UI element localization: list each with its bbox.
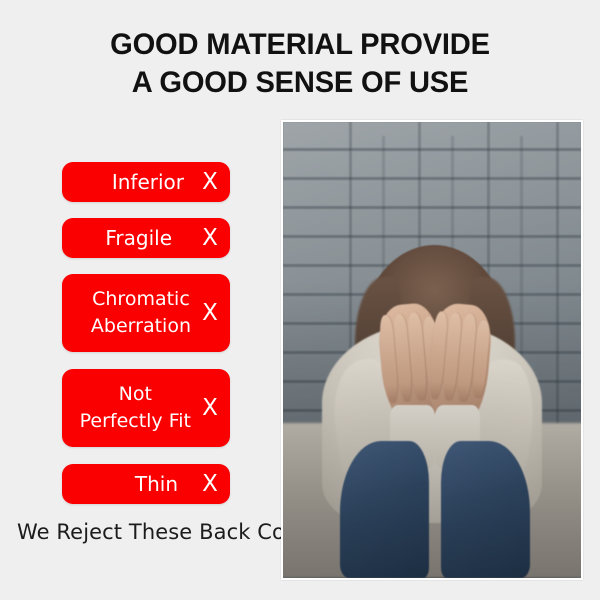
rejected-attribute-badge-thin: Thin X [62, 464, 230, 504]
cross-mark-icon: X [200, 473, 220, 496]
product-promo-poster: GOOD MATERIAL PROVIDE A GOOD SENSE OF US… [0, 0, 600, 600]
rejection-caption: We Reject These Back Cover [17, 519, 319, 545]
rejected-attribute-badge-fragile: Fragile X [62, 218, 230, 258]
left-jean-knee [340, 441, 429, 578]
badge-label: Inferior [108, 170, 184, 194]
badge-label: Fragile [101, 226, 172, 250]
rejected-attribute-badge-not-perfectly-fit: Not Perfectly Fit X [62, 369, 230, 447]
cross-mark-icon: X [200, 397, 220, 420]
right-jean-knee [441, 441, 530, 578]
cross-mark-icon: X [200, 227, 220, 250]
rejected-attribute-badge-inferior: Inferior X [62, 162, 230, 202]
photo-frame [281, 120, 583, 580]
page-title-line-1: GOOD MATERIAL PROVIDE [9, 26, 591, 64]
badge-label: Thin [127, 472, 178, 496]
page-title-line-2: A GOOD SENSE OF USE [9, 64, 591, 102]
badge-label: Not Perfectly Fit [80, 381, 191, 435]
page-title: GOOD MATERIAL PROVIDE A GOOD SENSE OF US… [9, 26, 591, 102]
badge-label: Chromatic Aberration [91, 286, 191, 340]
rejected-attribute-badge-chromatic-aberration: Chromatic Aberration X [62, 274, 230, 352]
photo-woman-covering-face [283, 122, 581, 578]
cross-mark-icon: X [200, 302, 220, 325]
cross-mark-icon: X [200, 171, 220, 194]
rejected-attributes-list: Inferior X Fragile X Chromatic Aberratio… [62, 162, 230, 504]
